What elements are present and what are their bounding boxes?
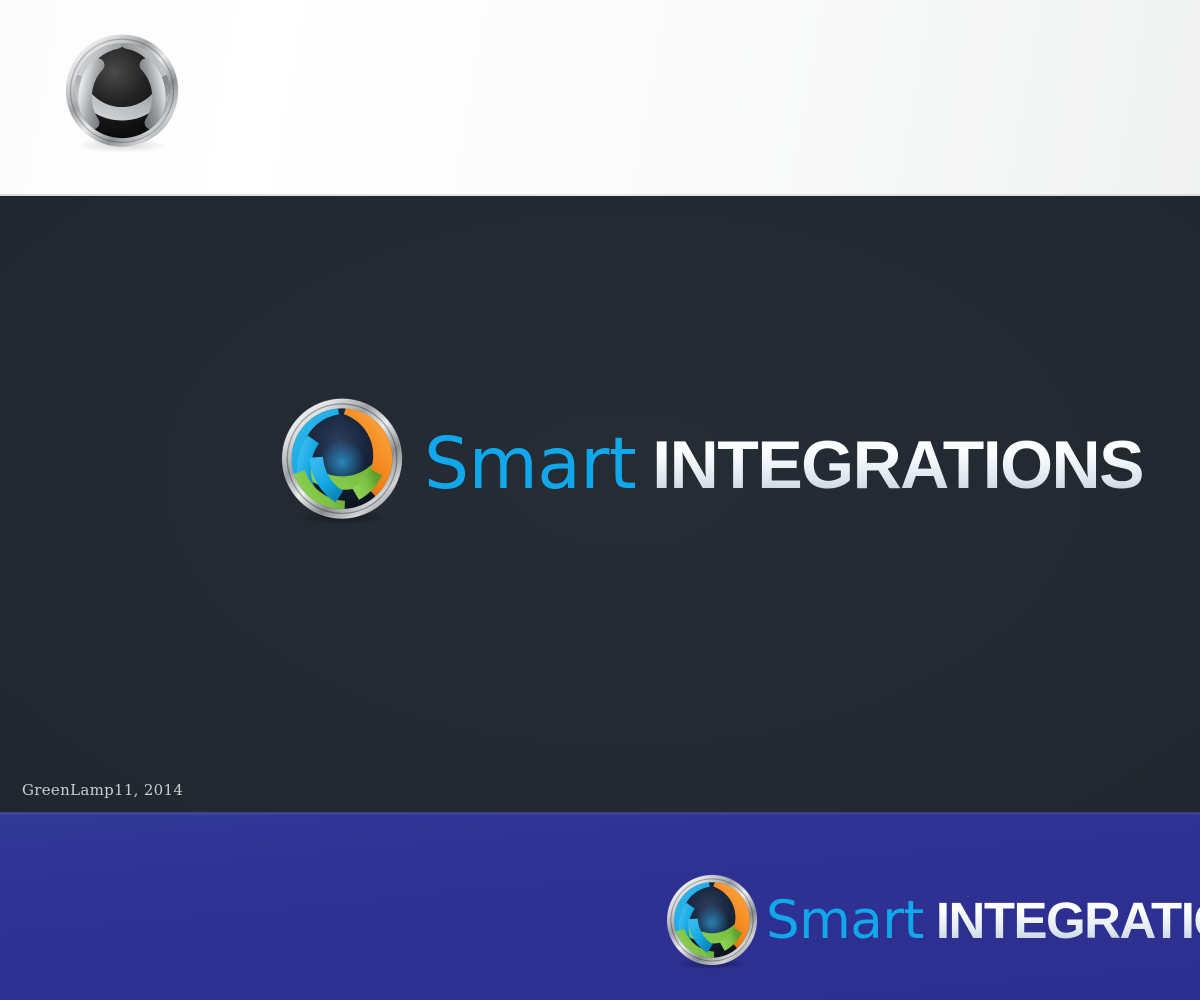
smart-integrations-logo-mark-color-footer-icon bbox=[661, 870, 763, 972]
smart-integrations-logo-mark-color-icon bbox=[274, 392, 410, 528]
design-presentation-canvas: SmartINTEGRATIONS GreenLamp11, 2014 bbox=[0, 0, 1200, 1000]
wordmark-secondary-text: INTEGRATIONS bbox=[652, 427, 1143, 503]
designer-credit: GreenLamp11, 2014 bbox=[22, 781, 183, 799]
wordmark-primary-text: Smart bbox=[424, 422, 636, 505]
smart-integrations-logo-mark-grayscale-icon bbox=[58, 28, 186, 156]
hero-wordmark: SmartINTEGRATIONS bbox=[424, 428, 1143, 499]
footer-wordmark-primary-text: Smart bbox=[766, 890, 924, 951]
footer-wordmark: SmartINTEGRATIONS bbox=[766, 894, 1200, 947]
footer-wordmark-secondary-text: INTEGRATIONS bbox=[936, 892, 1200, 949]
